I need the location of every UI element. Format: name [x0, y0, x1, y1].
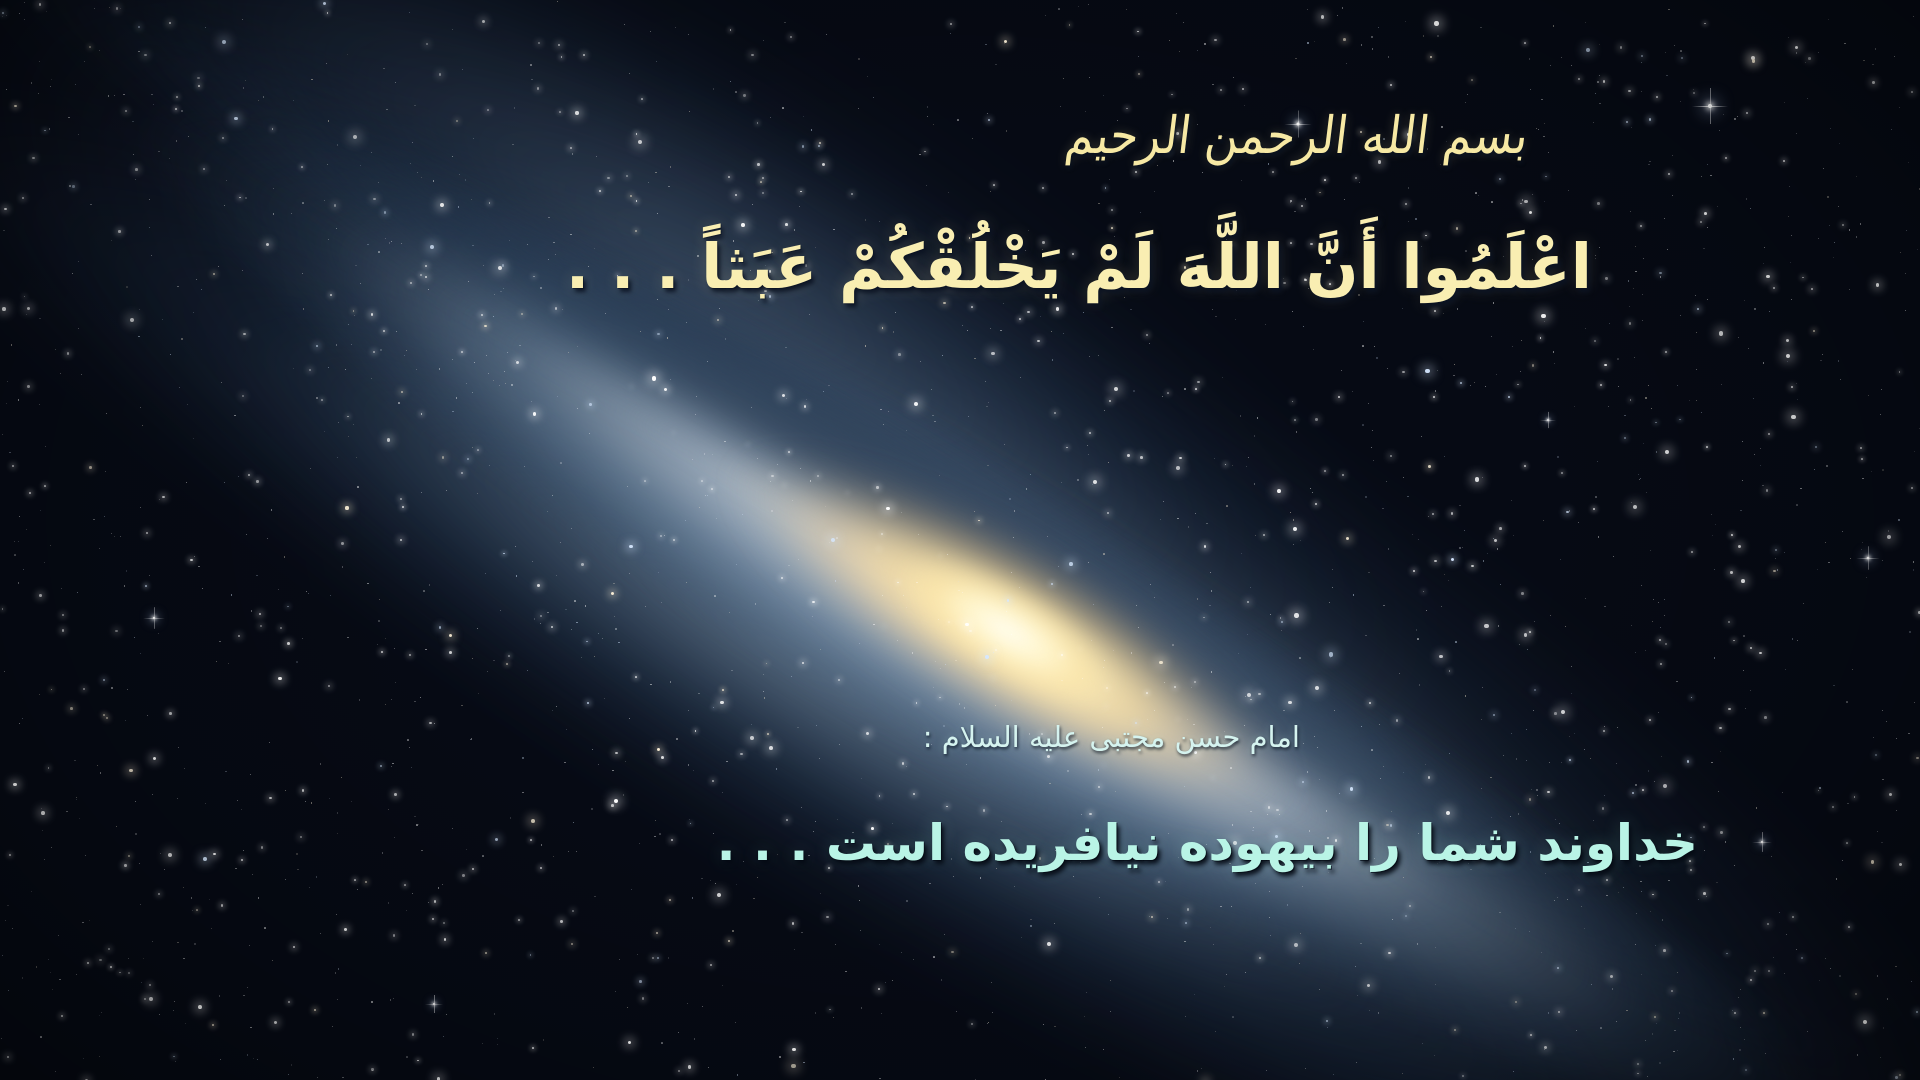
attribution-line: امام حسن مجتبی علیه السلام :	[923, 723, 1300, 752]
persian-translation-line: خداوند شما را بیهوده نیافریده است . . .	[717, 818, 1698, 868]
text-overlay: بسم الله الرحمن الرحيم اعْلَمُوا أَنَّ ا…	[0, 0, 1920, 1080]
wallpaper-scene: بسم الله الرحمن الرحيم اعْلَمُوا أَنَّ ا…	[0, 0, 1920, 1080]
hadith-arabic-line: اعْلَمُوا أَنَّ اللَّهَ لَمْ يَخْلُقْكُم…	[566, 236, 1592, 298]
basmala-line: بسم الله الرحمن الرحيم	[1062, 109, 1531, 161]
